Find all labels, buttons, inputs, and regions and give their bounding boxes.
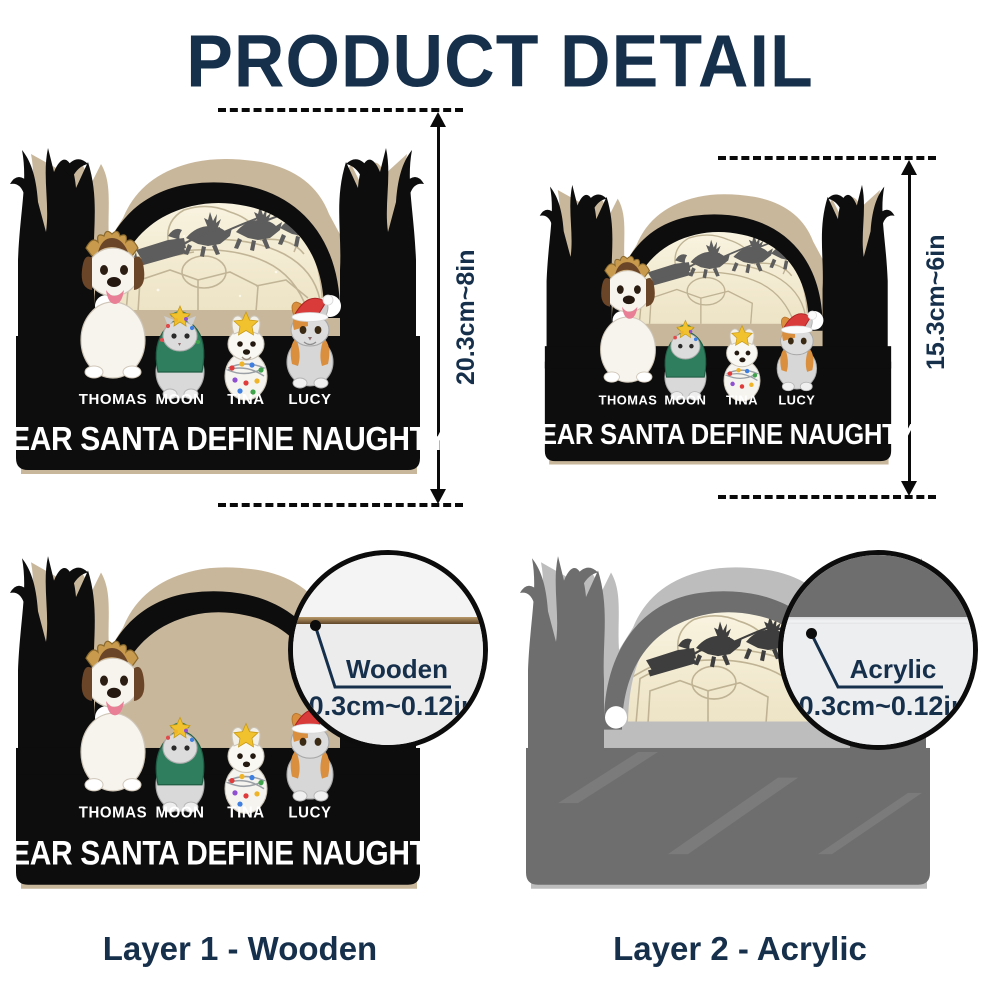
- layer-1-caption: Layer 1 - Wooden: [0, 930, 480, 968]
- callout-wooden-material: Wooden: [307, 655, 487, 683]
- pet-name-3: LUCY: [288, 391, 331, 408]
- svg-text:TINA: TINA: [726, 392, 758, 407]
- dim-small-label: 15.3cm~6in: [922, 234, 951, 370]
- pet-name-2: TINA: [227, 391, 264, 408]
- dim-small-arrow-bottom: [901, 481, 917, 496]
- page-title: PRODUCT DETAIL: [0, 18, 1000, 103]
- ornament-full-small: THOMAS MOON TINA LUCY DEAR SANTA DEFINE …: [538, 178, 898, 474]
- dim-large-label: 20.3cm~8in: [452, 249, 481, 385]
- dim-large-top-dashed-line: [218, 108, 463, 112]
- callout-acrylic-thickness: 0.3cm~0.12in: [799, 691, 968, 721]
- callout-wooden-thickness: 0.3cm~0.12in: [309, 691, 478, 721]
- svg-text:DEAR SANTA DEFINE NAUGHTY: DEAR SANTA DEFINE NAUGHTY: [0, 833, 447, 871]
- svg-text:TINA: TINA: [227, 804, 264, 821]
- dim-small-arrow-top: [901, 160, 917, 175]
- layer-2-caption: Layer 2 - Acrylic: [500, 930, 980, 968]
- callout-acrylic-anchor-dot: [806, 628, 817, 639]
- product-detail-page: PRODUCT DETAIL 20.3cm~8in 15.3cm~6in: [0, 0, 1000, 1000]
- svg-text:THOMAS: THOMAS: [599, 392, 658, 407]
- ornament-full-large: THOMAS MOON TINA LUCY DEAR SANTA DEFINE …: [8, 140, 428, 485]
- dim-large-arrow-bottom: [430, 489, 446, 504]
- dim-large-bottom-dashed-line: [218, 503, 463, 507]
- callout-acrylic-material: Acrylic: [803, 655, 978, 683]
- svg-text:LUCY: LUCY: [288, 804, 331, 821]
- callout-wooden: Wooden 0.3cm~0.12in: [288, 550, 488, 750]
- pet-name-0: THOMAS: [79, 391, 148, 408]
- svg-text:MOON: MOON: [664, 392, 706, 407]
- ornament-quote: DEAR SANTA DEFINE NAUGHTY: [0, 419, 447, 457]
- pet-lucy-calico-santa-hat: [287, 295, 333, 388]
- pet-name-1: MOON: [155, 391, 204, 408]
- svg-text:THOMAS: THOMAS: [79, 804, 148, 821]
- svg-text:MOON: MOON: [155, 804, 204, 821]
- callout-acrylic: Acrylic 0.3cm~0.12in: [778, 550, 978, 750]
- svg-text:LUCY: LUCY: [778, 392, 815, 407]
- svg-text:DEAR SANTA DEFINE NAUGHTY: DEAR SANTA DEFINE NAUGHTY: [522, 418, 915, 451]
- callout-wooden-anchor-dot: [310, 620, 321, 631]
- dim-large-arrow-top: [430, 112, 446, 127]
